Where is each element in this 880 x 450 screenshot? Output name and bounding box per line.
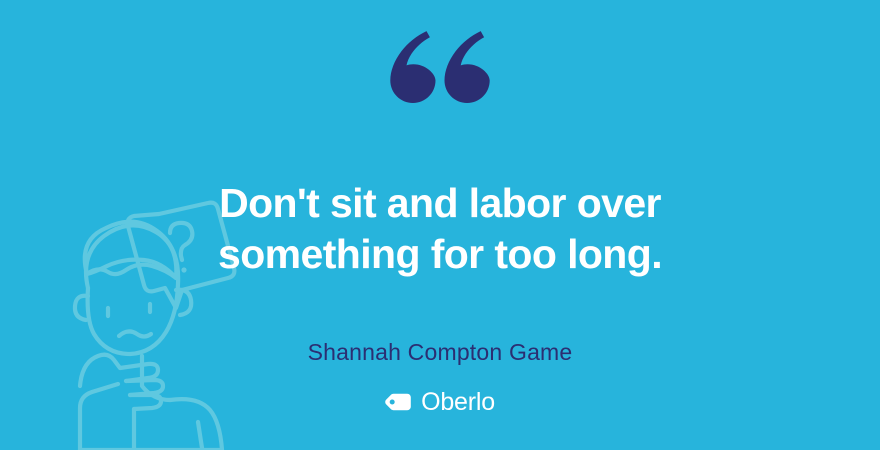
- ear-right: [176, 290, 191, 315]
- quote-card: Don't sit and labor over something for t…: [0, 0, 880, 450]
- quote-text: Don't sit and labor over something for t…: [0, 178, 880, 280]
- sleeve-crease: [198, 422, 202, 448]
- brand-logo: Oberlo: [0, 389, 880, 415]
- opening-double-quote-icon: [0, 28, 880, 124]
- oberlo-tag-icon: [385, 393, 411, 411]
- quote-mark-svg: [387, 28, 493, 116]
- oberlo-tag-svg: [385, 393, 411, 411]
- mouth: [119, 331, 151, 336]
- brand-name: Oberlo: [421, 389, 495, 415]
- ear-left: [75, 296, 88, 320]
- quote-author: Shannah Compton Game: [0, 339, 880, 366]
